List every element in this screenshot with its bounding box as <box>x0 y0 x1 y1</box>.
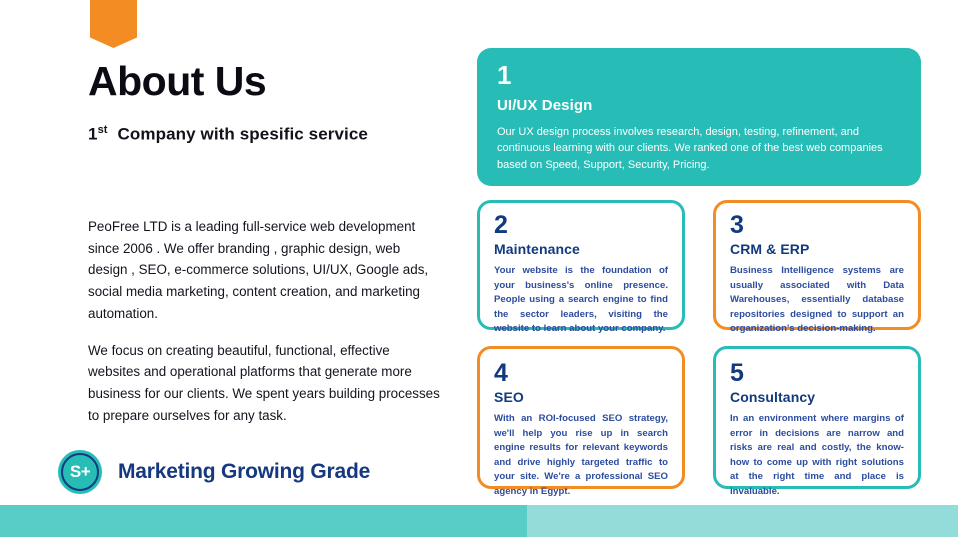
service-card-heading: CRM & ERP <box>730 241 904 257</box>
left-heading-block: About Us 1stCompany with spesific servic… <box>88 60 448 145</box>
orange-bookmark-shape <box>90 0 137 48</box>
service-card-ui-ux-design[interactable]: 1 UI/UX Design Our UX design process inv… <box>477 48 921 186</box>
about-us-slide: About Us 1stCompany with spesific servic… <box>0 0 958 537</box>
brand-logo-row: S+ Marketing Growing Grade <box>58 450 370 494</box>
subtitle-ordinal-suffix: st <box>98 124 108 136</box>
service-card-number: 5 <box>730 361 904 386</box>
service-card-maintenance[interactable]: 2 Maintenance Your website is the founda… <box>477 200 685 330</box>
subtitle-ordinal-number: 1 <box>88 125 98 144</box>
service-card-description: Your website is the foundation of your b… <box>494 264 668 337</box>
brand-logo-monogram: S+ <box>70 462 90 482</box>
service-card-description: With an ROI-focused SEO strategy, we'll … <box>494 412 668 499</box>
service-card-description: Our UX design process involves research,… <box>497 124 899 173</box>
bottom-accent-bar <box>0 505 958 537</box>
service-card-heading: Maintenance <box>494 241 668 257</box>
service-card-crm-erp[interactable]: 3 CRM & ERP Business Intelligence system… <box>713 200 921 330</box>
service-card-seo[interactable]: 4 SEO With an ROI-focused SEO strategy, … <box>477 346 685 489</box>
service-card-heading: Consultancy <box>730 389 904 405</box>
service-card-number: 2 <box>494 213 668 238</box>
service-card-number: 1 <box>497 62 899 88</box>
about-paragraph-2: We focus on creating beautiful, function… <box>88 340 440 427</box>
service-card-description: Business Intelligence systems are usuall… <box>730 264 904 337</box>
service-card-description: In an environment where margins of error… <box>730 412 904 499</box>
bottom-bar-left-segment <box>0 505 527 537</box>
service-card-heading: SEO <box>494 389 668 405</box>
service-card-number: 3 <box>730 213 904 238</box>
brand-logo-icon: S+ <box>58 450 102 494</box>
service-card-consultancy[interactable]: 5 Consultancy In an environment where ma… <box>713 346 921 489</box>
service-card-heading: UI/UX Design <box>497 97 899 114</box>
brand-logo-label: Marketing Growing Grade <box>118 460 370 484</box>
about-body-copy: PeoFree LTD is a leading full-service we… <box>88 216 440 426</box>
service-card-number: 4 <box>494 361 668 386</box>
about-paragraph-1: PeoFree LTD is a leading full-service we… <box>88 216 440 325</box>
bottom-bar-right-segment <box>527 505 958 537</box>
subtitle-text: Company with spesific service <box>118 125 368 144</box>
page-title: About Us <box>88 60 448 103</box>
page-subtitle: 1stCompany with spesific service <box>88 124 448 145</box>
